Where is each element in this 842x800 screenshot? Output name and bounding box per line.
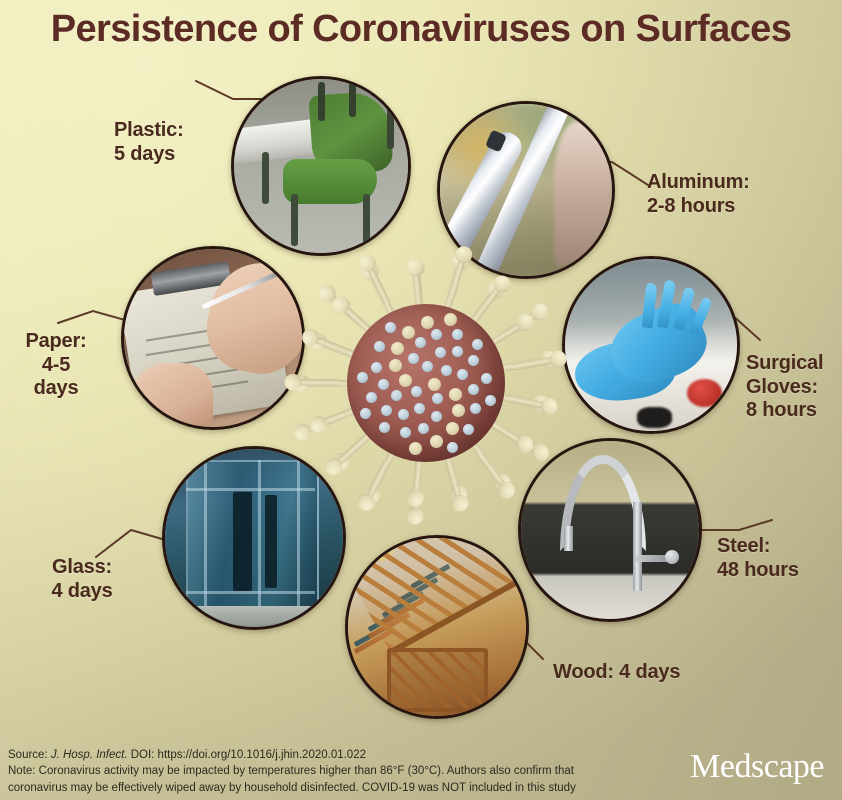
- label-line: 48 hours: [717, 559, 842, 583]
- label-wood: Wood: 4 days: [553, 661, 733, 685]
- page-title: Persistence of Coronaviruses on Surfaces: [0, 8, 842, 51]
- virus-protein-nub: [452, 346, 463, 357]
- virus-protein-nub: [432, 393, 443, 404]
- virus-protein-nub: [398, 409, 409, 420]
- label-plastic: Plastic:5 days: [114, 119, 224, 166]
- virus-protein-nub: [421, 316, 434, 329]
- label-steel: Steel:48 hours: [717, 535, 842, 582]
- note-line-1: Note: Coronavirus activity may be impact…: [8, 763, 628, 779]
- chair-leg: [291, 194, 298, 246]
- label-gloves: SurgicalGloves:8 hours: [746, 352, 842, 423]
- virus-protein-nub: [428, 378, 441, 391]
- footer-notes: Source: J. Hosp. Infect. DOI: https://do…: [8, 747, 628, 796]
- glass-dark-panel: [265, 495, 277, 588]
- photo-plastic-chairs: [231, 76, 411, 256]
- virus-protein-nub: [481, 373, 492, 384]
- label-line: Aluminum:: [647, 171, 837, 195]
- virus-protein-nub: [399, 374, 412, 387]
- label-line: days: [2, 377, 110, 401]
- virus-protein-nub: [371, 362, 382, 373]
- virus-protein-nub: [447, 442, 458, 453]
- virus-protein-nub: [415, 337, 426, 348]
- virus-protein-nub: [452, 329, 463, 340]
- virus-protein-nub: [468, 355, 479, 366]
- virus-protein-nub: [485, 395, 496, 406]
- photo-surgical-gloves: [562, 256, 740, 434]
- source-journal: J. Hosp. Infect.: [51, 749, 128, 761]
- person-background: [554, 121, 612, 265]
- virus-protein-nub: [400, 427, 411, 438]
- red-object: [687, 379, 721, 407]
- virus-protein-nub: [431, 411, 442, 422]
- dark-object: [637, 407, 671, 428]
- faucet-knob: [665, 550, 679, 564]
- label-line: Glass:: [22, 556, 142, 580]
- chair-leg: [262, 152, 269, 204]
- virus-protein-nub: [391, 342, 404, 355]
- virus-protein-nub: [381, 405, 392, 416]
- spike-knob: [538, 397, 558, 417]
- medscape-logo: Medscape: [690, 750, 824, 784]
- chair-leg: [349, 82, 356, 117]
- label-aluminum: Aluminum:2-8 hours: [647, 171, 837, 218]
- chair-leg: [318, 82, 325, 120]
- virus-protein-nub: [452, 404, 465, 417]
- label-line: 8 hours: [746, 399, 842, 423]
- spike-knob: [284, 374, 301, 391]
- virus-protein-nub: [385, 322, 396, 333]
- virus-protein-nub: [472, 339, 483, 350]
- virus-protein-nub: [357, 372, 368, 383]
- virus-protein-nub: [446, 422, 459, 435]
- spike-knob: [299, 326, 321, 348]
- virus-protein-nub: [374, 341, 385, 352]
- holding-hand: [131, 363, 213, 430]
- glass-frame: [186, 591, 314, 594]
- label-line: Surgical: [746, 352, 842, 376]
- virus-protein-nub: [463, 424, 474, 435]
- coronavirus-illustration: [291, 248, 561, 518]
- virus-protein-nub: [360, 408, 371, 419]
- virus-protein-nub: [414, 403, 425, 414]
- label-line: Wood: 4 days: [553, 661, 733, 685]
- label-paper: Paper:4-5days: [2, 330, 110, 401]
- virus-protein-nub: [411, 386, 422, 397]
- virus-protein-nub: [422, 361, 433, 372]
- label-line: 4 days: [22, 580, 142, 604]
- label-line: Plastic:: [114, 119, 224, 143]
- spike-knob: [405, 507, 423, 525]
- virus-protein-nub: [391, 390, 402, 401]
- virus-protein-nub: [408, 353, 419, 364]
- infographic-canvas: Persistence of Coronaviruses on Surfaces: [0, 0, 842, 800]
- virus-protein-nub: [444, 313, 457, 326]
- faucet-spout: [564, 526, 573, 551]
- label-line: 5 days: [114, 143, 224, 167]
- faucet-column: [633, 502, 642, 591]
- label-line: Gloves:: [746, 376, 842, 400]
- virus-protein-nub: [457, 369, 468, 380]
- glass-dark-panel: [233, 492, 253, 592]
- spike-knob: [453, 244, 474, 265]
- lower-balustrade: [387, 648, 488, 713]
- chair-leg: [387, 89, 394, 148]
- floor: [165, 606, 343, 627]
- source-prefix: Source:: [8, 749, 51, 761]
- virus-protein-nub: [470, 403, 481, 414]
- virus-protein-nub: [402, 326, 415, 339]
- virus-protein-nub: [379, 422, 390, 433]
- virus-protein-nub: [409, 442, 422, 455]
- chair-leg: [363, 194, 370, 246]
- label-glass: Glass:4 days: [22, 556, 142, 603]
- virus-protein-nub: [468, 384, 479, 395]
- virus-protein-nub: [366, 392, 377, 403]
- virus-protein-nub: [418, 423, 429, 434]
- virus-protein-nub: [441, 365, 452, 376]
- photo-wood-staircase: [345, 535, 529, 719]
- virus-protein-nub: [378, 379, 389, 390]
- virus-protein-nub: [389, 359, 402, 372]
- note-line-2: coronavirus may be effectively wiped awa…: [8, 780, 628, 796]
- source-line: Source: J. Hosp. Infect. DOI: https://do…: [8, 747, 628, 763]
- spike-knob: [405, 259, 424, 278]
- virus-protein-nub: [449, 388, 462, 401]
- virus-body: [347, 304, 505, 462]
- virus-protein-nub: [430, 435, 443, 448]
- label-line: Paper:: [2, 330, 110, 354]
- virus-protein-nub: [435, 347, 446, 358]
- photo-paper-clipboard: [121, 246, 305, 430]
- source-doi: DOI: https://doi.org/10.1016/j.jhin.2020…: [128, 749, 366, 761]
- label-line: Steel:: [717, 535, 842, 559]
- virus-protein-nub: [431, 329, 442, 340]
- label-line: 2-8 hours: [647, 195, 837, 219]
- label-line: 4-5: [2, 354, 110, 378]
